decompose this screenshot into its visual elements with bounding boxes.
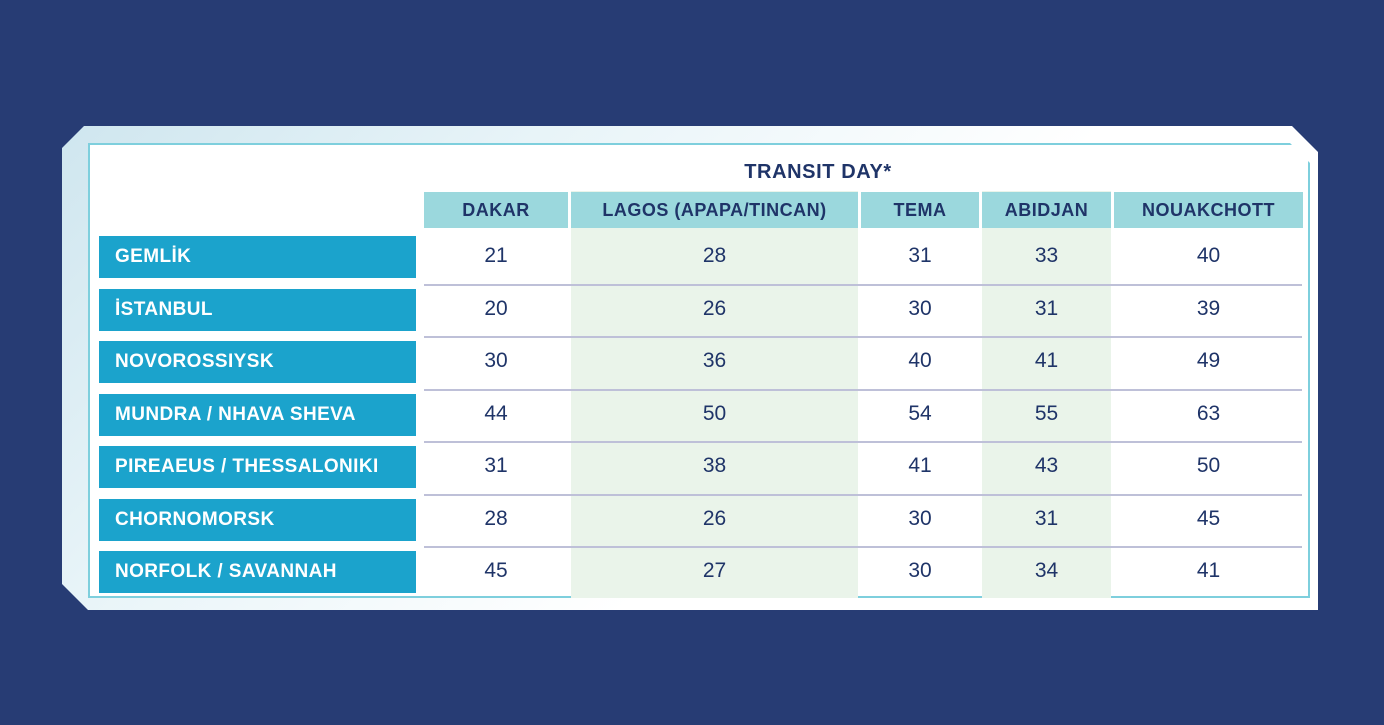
cell-novorossiysk-dakar: 30 xyxy=(424,338,568,384)
cell-pireaeus-abidjan: 43 xyxy=(982,443,1111,489)
cell-norfolk-lagos: 27 xyxy=(571,548,858,594)
cell-mundra-dakar: 44 xyxy=(424,391,568,437)
table-row: MUNDRA / NHAVA SHEVA 44 50 54 55 63 xyxy=(90,391,1308,444)
table-row: GEMLİK 21 28 31 33 40 xyxy=(90,233,1308,286)
cell-gemlik-lagos: 28 xyxy=(571,233,858,279)
cell-istanbul-lagos: 26 xyxy=(571,286,858,332)
column-header-tema: TEMA xyxy=(861,192,979,228)
cell-chornomorsk-abidjan: 31 xyxy=(982,496,1111,542)
cell-novorossiysk-nouakchott: 49 xyxy=(1114,338,1303,384)
cell-novorossiysk-abidjan: 41 xyxy=(982,338,1111,384)
table-body: GEMLİK 21 28 31 33 40 İSTANBUL 20 26 30 … xyxy=(90,233,1308,601)
cell-pireaeus-lagos: 38 xyxy=(571,443,858,489)
cell-norfolk-nouakchott: 41 xyxy=(1114,548,1303,594)
table-row: NORFOLK / SAVANNAH 45 27 30 34 41 xyxy=(90,548,1308,601)
row-label-pireaeus-thessaloniki: PIREAEUS / THESSALONIKI xyxy=(99,446,416,488)
cell-norfolk-dakar: 45 xyxy=(424,548,568,594)
table-row: CHORNOMORSK 28 26 30 31 45 xyxy=(90,496,1308,549)
cell-gemlik-nouakchott: 40 xyxy=(1114,233,1303,279)
cell-norfolk-abidjan: 34 xyxy=(982,548,1111,594)
table-row: İSTANBUL 20 26 30 31 39 xyxy=(90,286,1308,339)
cell-pireaeus-dakar: 31 xyxy=(424,443,568,489)
frame-chamfer-bottom-left xyxy=(62,584,88,610)
cell-chornomorsk-dakar: 28 xyxy=(424,496,568,542)
cell-mundra-abidjan: 55 xyxy=(982,391,1111,437)
cell-novorossiysk-lagos: 36 xyxy=(571,338,858,384)
row-label-istanbul: İSTANBUL xyxy=(99,289,416,331)
cell-istanbul-abidjan: 31 xyxy=(982,286,1111,332)
table-header-row: DAKAR LAGOS (APAPA/TINCAN) TEMA ABIDJAN … xyxy=(90,192,1308,228)
row-label-chornomorsk: CHORNOMORSK xyxy=(99,499,416,541)
column-header-dakar: DAKAR xyxy=(424,192,568,228)
row-label-gemlik: GEMLİK xyxy=(99,236,416,278)
cell-mundra-lagos: 50 xyxy=(571,391,858,437)
cell-novorossiysk-tema: 40 xyxy=(861,338,979,384)
column-header-abidjan: ABIDJAN xyxy=(982,192,1111,228)
cell-mundra-nouakchott: 63 xyxy=(1114,391,1303,437)
cell-norfolk-tema: 30 xyxy=(861,548,979,594)
row-label-mundra-nhava-sheva: MUNDRA / NHAVA SHEVA xyxy=(99,394,416,436)
frame-chamfer-top-right xyxy=(1292,126,1318,152)
table-row: PIREAEUS / THESSALONIKI 31 38 41 43 50 xyxy=(90,443,1308,496)
column-header-nouakchott: NOUAKCHOTT xyxy=(1114,192,1303,228)
row-label-novorossiysk: NOVOROSSIYSK xyxy=(99,341,416,383)
column-header-lagos: LAGOS (APAPA/TINCAN) xyxy=(571,192,858,228)
table-row: NOVOROSSIYSK 30 36 40 41 49 xyxy=(90,338,1308,391)
table-title: TRANSIT DAY* xyxy=(423,161,1213,184)
cell-gemlik-tema: 31 xyxy=(861,233,979,279)
cell-pireaeus-nouakchott: 50 xyxy=(1114,443,1303,489)
cell-istanbul-nouakchott: 39 xyxy=(1114,286,1303,332)
cell-chornomorsk-nouakchott: 45 xyxy=(1114,496,1303,542)
cell-chornomorsk-lagos: 26 xyxy=(571,496,858,542)
row-label-norfolk-savannah: NORFOLK / SAVANNAH xyxy=(99,551,416,593)
cell-istanbul-tema: 30 xyxy=(861,286,979,332)
cell-chornomorsk-tema: 30 xyxy=(861,496,979,542)
transit-day-table: TRANSIT DAY* DAKAR LAGOS (APAPA/TINCAN) … xyxy=(88,143,1310,598)
cell-gemlik-abidjan: 33 xyxy=(982,233,1111,279)
cell-istanbul-dakar: 20 xyxy=(424,286,568,332)
cell-pireaeus-tema: 41 xyxy=(861,443,979,489)
cell-gemlik-dakar: 21 xyxy=(424,233,568,279)
cell-mundra-tema: 54 xyxy=(861,391,979,437)
